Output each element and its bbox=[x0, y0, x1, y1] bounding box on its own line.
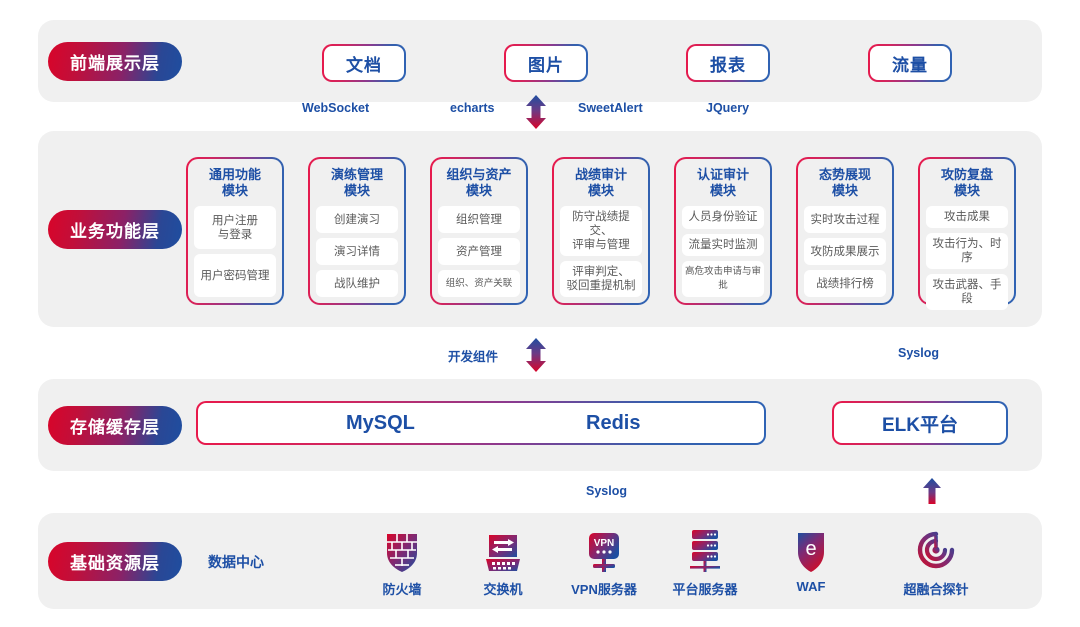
storage-label-redis: Redis bbox=[586, 412, 640, 435]
module-title: 组织与资产 模块 bbox=[438, 167, 520, 199]
module-title: 战绩审计 模块 bbox=[560, 167, 642, 199]
module-item-list: 防守战绩提交、 评审与管理 评审判定、 驳回重提机制 bbox=[560, 206, 642, 297]
vpn-server-icon: VPN bbox=[585, 527, 623, 573]
module-item[interactable]: 演习详情 bbox=[316, 238, 398, 265]
network-switch-icon bbox=[484, 527, 522, 573]
module-item[interactable]: 攻击武器、手段 bbox=[926, 274, 1008, 310]
layer-badge-frontend: 前端展示层 bbox=[48, 42, 182, 81]
architecture-diagram: 前端展示层 文档 图片 报表 流量 WebSocket echarts bbox=[0, 0, 1080, 627]
infra-device-label: 平台服务器 bbox=[672, 579, 737, 598]
infra-device-switch[interactable]: 交换机 bbox=[455, 527, 551, 598]
datacenter-label: 数据中心 bbox=[208, 552, 264, 572]
connector-label-syslog-storage: Syslog bbox=[586, 484, 627, 498]
frontend-box-label: 流量 bbox=[870, 46, 950, 80]
connector-row-frontend: WebSocket echarts SweetAlert JQuery bbox=[38, 95, 1042, 123]
connector-row-business: 开发组件 Syslog bbox=[38, 340, 1042, 368]
module-item[interactable]: 人员身份验证 bbox=[682, 206, 764, 229]
module-item[interactable]: 评审判定、 驳回重提机制 bbox=[560, 261, 642, 297]
storage-box-mysql-redis[interactable]: MySQL Redis bbox=[196, 401, 766, 445]
module-item-list: 用户注册 与登录 用户密码管理 bbox=[194, 206, 276, 297]
connector-label-sweetalert: SweetAlert bbox=[578, 101, 643, 115]
module-item[interactable]: 战绩排行榜 bbox=[804, 270, 886, 297]
firewall-shield-icon bbox=[385, 527, 419, 573]
module-item-list: 攻击成果 攻击行为、时序 攻击武器、手段 bbox=[926, 206, 1008, 310]
infra-device-platform-server[interactable]: 平台服务器 bbox=[657, 527, 753, 598]
svg-text:e: e bbox=[805, 538, 816, 560]
frontend-box-report[interactable]: 报表 bbox=[686, 44, 770, 82]
up-arrow-icon bbox=[922, 478, 942, 504]
layer-badge-infrastructure: 基础资源层 bbox=[48, 542, 182, 581]
business-module-attack-review[interactable]: 攻防复盘 模块 攻击成果 攻击行为、时序 攻击武器、手段 bbox=[918, 157, 1016, 305]
business-module-situation[interactable]: 态势展现 模块 实时攻击过程 攻防成果展示 战绩排行榜 bbox=[796, 157, 894, 305]
layer-panel-infrastructure: 基础资源层 数据中心 bbox=[38, 513, 1042, 609]
module-item-list: 组织管理 资产管理 组织、资产关联 bbox=[438, 206, 520, 297]
bidirectional-arrow-icon bbox=[524, 338, 548, 372]
infra-device-label: WAF bbox=[797, 579, 826, 594]
waf-shield-icon: e bbox=[796, 527, 826, 573]
frontend-box-image[interactable]: 图片 bbox=[504, 44, 588, 82]
storage-label-mysql: MySQL bbox=[346, 412, 415, 435]
frontend-box-document[interactable]: 文档 bbox=[322, 44, 406, 82]
frontend-box-label: 图片 bbox=[506, 46, 586, 80]
layer-panel-storage: 存储缓存层 MySQL Redis ELK平台 bbox=[38, 379, 1042, 471]
storage-box-elk[interactable]: ELK平台 bbox=[832, 401, 1008, 445]
connector-label-syslog-business: Syslog bbox=[898, 346, 939, 360]
module-item[interactable]: 实时攻击过程 bbox=[804, 206, 886, 233]
connector-label-websocket: WebSocket bbox=[302, 101, 369, 115]
module-item[interactable]: 用户注册 与登录 bbox=[194, 206, 276, 249]
storage-label-elk: ELK平台 bbox=[834, 403, 1006, 443]
rack-server-icon bbox=[687, 527, 723, 573]
layer-panel-business: 业务功能层 通用功能 模块 用户注册 与登录 用户密码管理 演练管理 模块 创建… bbox=[38, 131, 1042, 327]
connector-label-echarts: echarts bbox=[450, 101, 494, 115]
infra-device-probe[interactable]: 超融合探针 bbox=[888, 527, 984, 598]
module-item[interactable]: 资产管理 bbox=[438, 238, 520, 265]
infra-device-vpn-server[interactable]: VPN VPN服务器 bbox=[556, 527, 652, 598]
frontend-box-label: 报表 bbox=[688, 46, 768, 80]
module-item-list: 人员身份验证 流量实时监测 高危攻击申请与审批 bbox=[682, 206, 764, 297]
module-title: 态势展现 模块 bbox=[804, 167, 886, 199]
layer-panel-frontend: 前端展示层 文档 图片 报表 流量 bbox=[38, 20, 1042, 102]
connector-label-jquery: JQuery bbox=[706, 101, 749, 115]
module-item-list: 创建演习 演习详情 战队维护 bbox=[316, 206, 398, 297]
module-item[interactable]: 攻防成果展示 bbox=[804, 238, 886, 265]
infra-device-label: VPN服务器 bbox=[571, 579, 637, 598]
infra-device-firewall[interactable]: 防火墙 bbox=[354, 527, 450, 598]
business-module-drill-management[interactable]: 演练管理 模块 创建演习 演习详情 战队维护 bbox=[308, 157, 406, 305]
business-module-general[interactable]: 通用功能 模块 用户注册 与登录 用户密码管理 bbox=[186, 157, 284, 305]
layer-badge-business: 业务功能层 bbox=[48, 210, 182, 249]
module-item[interactable]: 组织、资产关联 bbox=[438, 270, 520, 297]
infra-device-label: 超融合探针 bbox=[903, 579, 968, 598]
hyperconverged-probe-icon bbox=[916, 527, 956, 573]
module-item[interactable]: 用户密码管理 bbox=[194, 254, 276, 297]
module-title: 演练管理 模块 bbox=[316, 167, 398, 199]
module-item[interactable]: 攻击成果 bbox=[926, 206, 1008, 228]
module-title: 通用功能 模块 bbox=[194, 167, 276, 199]
module-title: 攻防复盘 模块 bbox=[926, 167, 1008, 199]
business-module-auth-audit[interactable]: 认证审计 模块 人员身份验证 流量实时监测 高危攻击申请与审批 bbox=[674, 157, 772, 305]
business-module-org-asset[interactable]: 组织与资产 模块 组织管理 资产管理 组织、资产关联 bbox=[430, 157, 528, 305]
layer-badge-storage: 存储缓存层 bbox=[48, 406, 182, 445]
module-item[interactable]: 防守战绩提交、 评审与管理 bbox=[560, 206, 642, 256]
module-item[interactable]: 战队维护 bbox=[316, 270, 398, 297]
module-item[interactable]: 创建演习 bbox=[316, 206, 398, 233]
frontend-box-label: 文档 bbox=[324, 46, 404, 80]
module-item[interactable]: 组织管理 bbox=[438, 206, 520, 233]
module-item[interactable]: 流量实时监测 bbox=[682, 234, 764, 257]
svg-text:VPN: VPN bbox=[594, 538, 615, 549]
connector-row-storage: Syslog bbox=[38, 478, 1042, 506]
business-module-score-audit[interactable]: 战绩审计 模块 防守战绩提交、 评审与管理 评审判定、 驳回重提机制 bbox=[552, 157, 650, 305]
bidirectional-arrow-icon bbox=[524, 95, 548, 129]
module-title: 认证审计 模块 bbox=[682, 167, 764, 199]
infra-device-waf[interactable]: e WAF bbox=[763, 527, 859, 594]
module-item[interactable]: 高危攻击申请与审批 bbox=[682, 261, 764, 297]
infra-device-label: 防火墙 bbox=[382, 579, 421, 598]
module-item[interactable]: 攻击行为、时序 bbox=[926, 233, 1008, 269]
infra-device-label: 交换机 bbox=[483, 579, 522, 598]
frontend-box-traffic[interactable]: 流量 bbox=[868, 44, 952, 82]
module-item-list: 实时攻击过程 攻防成果展示 战绩排行榜 bbox=[804, 206, 886, 297]
connector-label-dev-component: 开发组件 bbox=[448, 346, 498, 365]
